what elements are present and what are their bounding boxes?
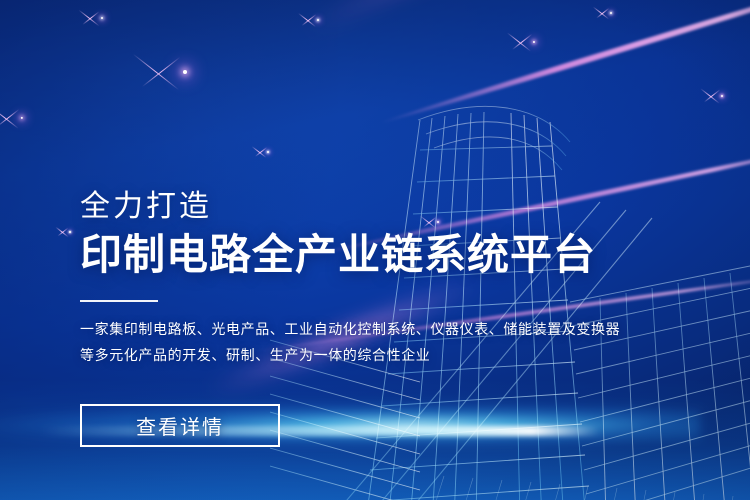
hero-description-line-1: 一家集印制电路板、光电产品、工业自动化控制系统、仪器仪表、储能装置及变换器 xyxy=(80,316,600,342)
hero-eyebrow: 全力打造 xyxy=(80,190,680,223)
view-details-button[interactable]: 查看详情 xyxy=(80,404,280,447)
hero-divider xyxy=(80,300,158,302)
hero-banner: 01 001 01 001 0110 01 0 1001 01 01 001 0… xyxy=(0,0,750,500)
hero-description-line-2: 等多元化产品的开发、研制、生产为一体的综合性企业 xyxy=(80,342,600,368)
hero-headline: 印制电路全产业链系统平台 xyxy=(80,231,680,278)
hero-description: 一家集印制电路板、光电产品、工业自动化控制系统、仪器仪表、储能装置及变换器 等多… xyxy=(80,316,600,368)
hero-content: 全力打造 印制电路全产业链系统平台 一家集印制电路板、光电产品、工业自动化控制系… xyxy=(80,190,680,368)
